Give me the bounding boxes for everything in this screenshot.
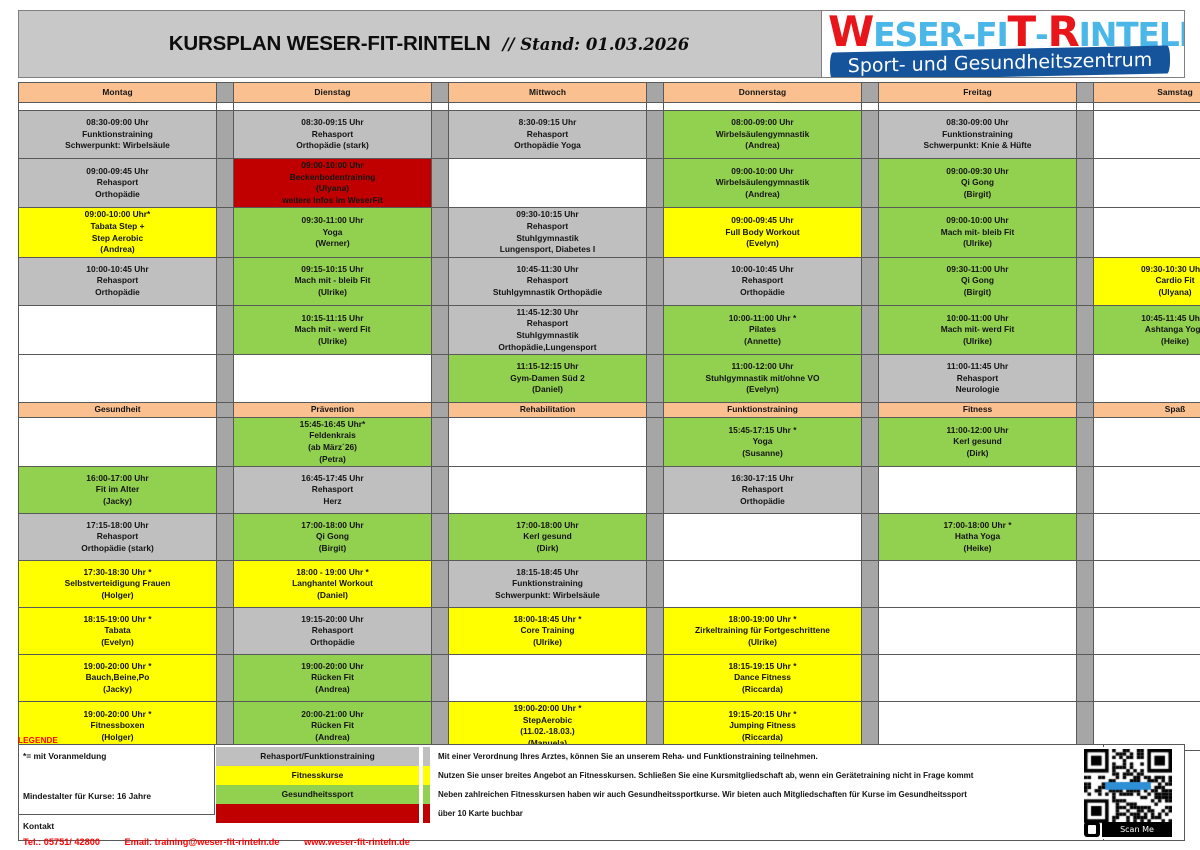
- category-header: Prävention: [234, 403, 432, 418]
- column-spacer: [647, 208, 664, 257]
- course-line: Rehasport: [236, 625, 429, 637]
- course-line: Mach mit- werd Fit: [881, 324, 1074, 336]
- course-line: (Daniel): [236, 590, 429, 602]
- column-spacer: [862, 561, 879, 608]
- legend-description: über 10 Karte buchbar: [423, 804, 1103, 823]
- column-spacer: [432, 467, 449, 514]
- course-line: 17:00-18:00 Uhr: [236, 520, 429, 532]
- course-line: Zirkeltraining für Fortgeschrittene: [666, 625, 859, 637]
- course-cell: [879, 655, 1077, 702]
- course-line: 10:45-11:45 Uhr *: [1096, 313, 1200, 325]
- column-spacer: [217, 608, 234, 655]
- course-line: Orthopädie: [21, 287, 214, 299]
- course-line: Hatha Yoga: [881, 531, 1074, 543]
- course-line: 18:00-18:45 Uhr *: [451, 614, 644, 626]
- column-spacer: [1077, 608, 1094, 655]
- course-line: 17:30-18:30 Uhr *: [21, 567, 214, 579]
- course-cell: 10:00-11:00 UhrMach mit- werd Fit(Ulrike…: [879, 305, 1077, 354]
- course-cell: [1094, 208, 1200, 257]
- course-line: Cardio Fit: [1096, 275, 1200, 287]
- course-line: Funktionstraining: [451, 578, 644, 590]
- legend-phone: Tel.: 05751/ 42800: [23, 837, 100, 847]
- column-spacer: [217, 83, 234, 103]
- course-line: Wirbelsäulengymnastik: [666, 177, 859, 189]
- course-line: 18:15-19:15 Uhr *: [666, 661, 859, 673]
- course-line: Rücken Fit: [236, 720, 429, 732]
- course-line: Wirbelsäulengymnastik: [666, 129, 859, 141]
- course-line: (Evelyn): [666, 238, 859, 250]
- course-line: (Birgit): [881, 287, 1074, 299]
- schedule-row: 18:15-19:00 Uhr *Tabata(Evelyn)19:15-20:…: [19, 608, 1200, 655]
- course-line: (Andrea): [666, 189, 859, 201]
- row-spacer: [664, 103, 862, 111]
- course-line: (Riccarda): [666, 732, 859, 744]
- course-cell: 09:30-11:00 UhrYoga(Werner): [234, 208, 432, 257]
- course-cell: 11:00-12:00 UhrStuhlgymnastik mit/ohne V…: [664, 355, 862, 403]
- course-line: 19:15-20:15 Uhr *: [666, 709, 859, 721]
- course-cell: 10:00-10:45 UhrRehasportOrthopädie: [19, 257, 217, 305]
- course-line: 17:00-18:00 Uhr: [451, 520, 644, 532]
- course-line: (Petra): [236, 454, 429, 466]
- kursplan-page: KURSPLAN WESER-FIT-RINTELN // Stand: 01.…: [0, 0, 1200, 850]
- company-logo: WESER-FIT-RINTELN Sport- und Gesundheits…: [821, 11, 1184, 77]
- course-line: 18:00 - 19:00 Uhr *: [236, 567, 429, 579]
- legend-panel: *= mit Voranmeldung Mindestalter für Kur…: [18, 744, 1185, 841]
- course-line: Yoga: [666, 436, 859, 448]
- course-cell: 09:30-10:15 UhrRehasportStuhlgymnastikLu…: [449, 208, 647, 257]
- column-spacer: [862, 111, 879, 159]
- legend-kontakt-label: Kontakt: [23, 821, 54, 831]
- course-cell: [1094, 159, 1200, 208]
- course-cell: [1094, 561, 1200, 608]
- column-spacer: [217, 305, 234, 354]
- course-line: 09:30-10:15 Uhr: [451, 209, 644, 221]
- legend-description: Mit einer Verordnung Ihres Arztes, könne…: [423, 747, 1103, 766]
- course-line: (Holger): [21, 590, 214, 602]
- course-line: Orthopädie: [666, 287, 859, 299]
- course-cell: 8:30-09:15 UhrRehasportOrthopädie Yoga: [449, 111, 647, 159]
- course-line: 11:00-11:45 Uhr: [881, 361, 1074, 373]
- column-spacer: [432, 208, 449, 257]
- column-spacer: [1077, 514, 1094, 561]
- course-line: Step Aerobic: [21, 233, 214, 245]
- course-cell: 10:15-11:15 UhrMach mit - werd Fit(Ulrik…: [234, 305, 432, 354]
- course-cell: 11:00-12:00 UhrKerl gesund(Dirk): [879, 417, 1077, 466]
- course-cell: 10:00-10:45 UhrRehasportOrthopädie: [664, 257, 862, 305]
- row-spacer: [647, 103, 664, 111]
- column-spacer: [862, 159, 879, 208]
- course-line: Rücken Fit: [236, 672, 429, 684]
- course-line: 20:00-21:00 Uhr: [236, 709, 429, 721]
- course-cell: [449, 655, 647, 702]
- column-spacer: [432, 403, 449, 418]
- course-cell: 09:00-09:45 UhrRehasportOrthopädie: [19, 159, 217, 208]
- page-title: KURSPLAN WESER-FIT-RINTELN // Stand: 01.…: [19, 11, 821, 77]
- course-line: 19:00-20:00 Uhr: [236, 661, 429, 673]
- course-line: Tabata Step +: [21, 221, 214, 233]
- course-line: 11:00-12:00 Uhr: [881, 425, 1074, 437]
- legend-contact-line: Tel.: 05751/ 42800 Email: training@weser…: [23, 837, 432, 847]
- column-spacer: [862, 514, 879, 561]
- course-line: Jumping Fitness: [666, 720, 859, 732]
- course-line: 19:00-20:00 Uhr *: [21, 709, 214, 721]
- course-line: Mach mit- bleib Fit: [881, 227, 1074, 239]
- course-line: 10:00-10:45 Uhr: [666, 264, 859, 276]
- course-line: 16:30-17:15 Uhr: [666, 473, 859, 485]
- course-line: Stuhlgymnastik mit/ohne VO: [666, 373, 859, 385]
- course-line: 09:00-09:45 Uhr: [21, 166, 214, 178]
- course-line: (Andrea): [21, 244, 214, 256]
- course-line: 09:15-10:15 Uhr: [236, 264, 429, 276]
- title-bar: KURSPLAN WESER-FIT-RINTELN // Stand: 01.…: [18, 10, 1185, 78]
- course-line: Selbstverteidigung Frauen: [21, 578, 214, 590]
- course-cell: 15:45-17:15 Uhr *Yoga(Susanne): [664, 417, 862, 466]
- day-header-montag: Montag: [19, 83, 217, 103]
- course-line: Rehasport: [236, 484, 429, 496]
- column-spacer: [1077, 257, 1094, 305]
- column-spacer: [647, 467, 664, 514]
- course-cell: 11:15-12:15 UhrGym-Damen Süd 2(Daniel): [449, 355, 647, 403]
- course-line: Rehasport: [451, 129, 644, 141]
- course-line: Rehasport: [451, 318, 644, 330]
- course-line: 16:00-17:00 Uhr: [21, 473, 214, 485]
- course-cell: [879, 467, 1077, 514]
- category-header: Funktionstraining: [664, 403, 862, 418]
- course-line: (Birgit): [881, 189, 1074, 201]
- course-cell: 15:45-16:45 Uhr*Feldenkrais(ab März´26)(…: [234, 417, 432, 466]
- schedule-row: 11:15-12:15 UhrGym-Damen Süd 2(Daniel)11…: [19, 355, 1200, 403]
- course-cell: 19:00-20:00 Uhr *Bauch,Beine,Po(Jacky): [19, 655, 217, 702]
- column-spacer: [217, 208, 234, 257]
- course-cell: [19, 355, 217, 403]
- category-header: Fitness: [879, 403, 1077, 418]
- course-line: (Heike): [881, 543, 1074, 555]
- column-spacer: [432, 417, 449, 466]
- course-line: (Werner): [236, 238, 429, 250]
- course-line: (11.02.-18.03.): [451, 726, 644, 738]
- column-spacer: [432, 305, 449, 354]
- day-header-samstag: Samstag: [1094, 83, 1200, 103]
- course-cell: 10:45-11:30 UhrRehasportStuhlgymnastik O…: [449, 257, 647, 305]
- course-line: (Riccarda): [666, 684, 859, 696]
- course-line: 16:45-17:45 Uhr: [236, 473, 429, 485]
- course-line: 8:30-09:15 Uhr: [451, 117, 644, 129]
- column-spacer: [647, 655, 664, 702]
- course-cell: 09:00-09:45 UhrFull Body Workout(Evelyn): [664, 208, 862, 257]
- course-line: Stuhlgymnastik Orthopädie: [451, 287, 644, 299]
- course-line: Neurologie: [881, 384, 1074, 396]
- course-line: Fit im Alter: [21, 484, 214, 496]
- column-spacer: [647, 159, 664, 208]
- course-cell: [1094, 111, 1200, 159]
- course-line: Rehasport: [666, 275, 859, 287]
- course-cell: 17:30-18:30 Uhr *Selbstverteidigung Frau…: [19, 561, 217, 608]
- column-spacer: [647, 514, 664, 561]
- column-spacer: [432, 608, 449, 655]
- course-line: Feldenkrais: [236, 430, 429, 442]
- course-cell: 18:00-19:00 Uhr *Zirkeltraining für Fort…: [664, 608, 862, 655]
- course-cell: 08:00-09:00 UhrWirbelsäulengymnastik(And…: [664, 111, 862, 159]
- course-line: 10:00-11:00 Uhr *: [666, 313, 859, 325]
- course-line: 11:15-12:15 Uhr: [451, 361, 644, 373]
- column-spacer: [1077, 655, 1094, 702]
- course-cell: [1094, 608, 1200, 655]
- day-header-mittwoch: Mittwoch: [449, 83, 647, 103]
- course-line: 09:30-11:00 Uhr: [236, 215, 429, 227]
- column-spacer: [432, 514, 449, 561]
- course-line: Gym-Damen Süd 2: [451, 373, 644, 385]
- course-line: Yoga: [236, 227, 429, 239]
- course-line: (Ulrike): [881, 336, 1074, 348]
- course-line: 19:00-20:00 Uhr *: [451, 703, 644, 715]
- course-cell: [1094, 417, 1200, 466]
- column-spacer: [647, 355, 664, 403]
- course-line: 10:45-11:30 Uhr: [451, 264, 644, 276]
- row-spacer: [879, 103, 1077, 111]
- course-line: Orthopädie: [236, 637, 429, 649]
- row-spacer: [432, 103, 449, 111]
- course-line: 19:15-20:00 Uhr: [236, 614, 429, 626]
- course-line: 10:15-11:15 Uhr: [236, 313, 429, 325]
- course-line: Langhantel Workout: [236, 578, 429, 590]
- course-line: (Evelyn): [666, 384, 859, 396]
- column-spacer: [217, 355, 234, 403]
- course-line: Rehasport: [451, 221, 644, 233]
- column-spacer: [1077, 305, 1094, 354]
- column-spacer: [217, 257, 234, 305]
- course-line: 19:00-20:00 Uhr *: [21, 661, 214, 673]
- course-line: 10:00-10:45 Uhr: [21, 264, 214, 276]
- qr-code-icon[interactable]: [1084, 749, 1172, 825]
- column-spacer: [1077, 561, 1094, 608]
- course-line: 18:15-19:00 Uhr *: [21, 614, 214, 626]
- column-spacer: [862, 467, 879, 514]
- column-spacer: [862, 403, 879, 418]
- course-line: 08:30-09:15 Uhr: [236, 117, 429, 129]
- course-cell: [664, 514, 862, 561]
- course-line: (Jacky): [21, 496, 214, 508]
- category-header: Spaß: [1094, 403, 1200, 418]
- course-cell: 18:15-19:15 Uhr *Dance Fitness(Riccarda): [664, 655, 862, 702]
- day-header-donnerstag: Donnerstag: [664, 83, 862, 103]
- course-cell: [879, 561, 1077, 608]
- qr-code-area[interactable]: Scan Me: [1078, 747, 1178, 839]
- column-spacer: [647, 561, 664, 608]
- course-line: Qi Gong: [236, 531, 429, 543]
- course-line: (Andrea): [236, 684, 429, 696]
- schedule-row: 10:15-11:15 UhrMach mit - werd Fit(Ulrik…: [19, 305, 1200, 354]
- row-spacer: [217, 103, 234, 111]
- course-line: (Dirk): [451, 543, 644, 555]
- category-header: Rehabilitation: [449, 403, 647, 418]
- legend-website[interactable]: www.weser-fit-rinteln.de: [304, 837, 410, 847]
- course-line: (Birgit): [236, 543, 429, 555]
- course-line: 17:00-18:00 Uhr *: [881, 520, 1074, 532]
- course-line: Rehasport: [666, 484, 859, 496]
- course-line: Orthopädie (stark): [21, 543, 214, 555]
- qr-code-box[interactable]: Scan Me: [1084, 749, 1172, 837]
- course-line: Ashtanga Yoga: [1096, 324, 1200, 336]
- course-cell: 09:00-10:00 UhrBeckenbodentraining(Ulyan…: [234, 159, 432, 208]
- course-cell: [449, 159, 647, 208]
- row-spacer: [19, 103, 217, 111]
- course-line: weitere Infos im WeserFit: [236, 195, 429, 207]
- day-header-freitag: Freitag: [879, 83, 1077, 103]
- course-line: 09:00-09:45 Uhr: [666, 215, 859, 227]
- column-spacer: [432, 83, 449, 103]
- schedule-row: 17:15-18:00 UhrRehasportOrthopädie (star…: [19, 514, 1200, 561]
- column-spacer: [862, 417, 879, 466]
- column-spacer: [647, 111, 664, 159]
- course-line: 18:15-18:45 Uhr: [451, 567, 644, 579]
- course-cell: 08:30-09:15 UhrRehasportOrthopädie (star…: [234, 111, 432, 159]
- title-stand-text: // Stand: 01.03.2026: [502, 35, 689, 54]
- course-line: Orthopädie (stark): [236, 140, 429, 152]
- course-line: Funktionstraining: [881, 129, 1074, 141]
- course-cell: 16:00-17:00 UhrFit im Alter(Jacky): [19, 467, 217, 514]
- course-line: Lungensport, Diabetes I: [451, 244, 644, 256]
- course-line: Qi Gong: [881, 177, 1074, 189]
- row-spacer: [234, 103, 432, 111]
- course-cell: 17:00-18:00 Uhr *Hatha Yoga(Heike): [879, 514, 1077, 561]
- schedule-table: MontagDienstagMittwochDonnerstagFreitagS…: [18, 82, 1200, 751]
- qr-footer: Scan Me: [1084, 822, 1172, 837]
- course-line: Orthopädie: [21, 189, 214, 201]
- course-cell: [1094, 514, 1200, 561]
- course-line: 08:30-09:00 Uhr: [21, 117, 214, 129]
- column-spacer: [862, 608, 879, 655]
- legend-description: Nutzen Sie unser breites Angebot an Fitn…: [423, 766, 1103, 785]
- row-spacer: [1077, 103, 1094, 111]
- course-cell: 09:15-10:15 UhrMach mit - bleib Fit(Ulri…: [234, 257, 432, 305]
- schedule-row: 08:30-09:00 UhrFunktionstrainingSchwerpu…: [19, 111, 1200, 159]
- legend-color-swatches: Rehasport/FunktionstrainingFitnesskurseG…: [216, 747, 419, 823]
- column-spacer: [647, 417, 664, 466]
- course-line: (Dirk): [881, 448, 1074, 460]
- course-cell: 09:30-11:00 UhrQi Gong(Birgit): [879, 257, 1077, 305]
- course-line: Orthopädie,Lungensport: [451, 342, 644, 354]
- row-spacer: [1094, 103, 1200, 111]
- column-spacer: [217, 655, 234, 702]
- qr-scan-label: Scan Me: [1102, 822, 1172, 837]
- column-spacer: [647, 257, 664, 305]
- course-cell: 09:00-10:00 UhrMach mit- bleib Fit(Ulrik…: [879, 208, 1077, 257]
- course-cell: 18:00-18:45 Uhr *Core Training(Ulrike): [449, 608, 647, 655]
- course-line: 09:00-10:00 Uhr*: [21, 209, 214, 221]
- schedule-row: 10:00-10:45 UhrRehasportOrthopädie09:15-…: [19, 257, 1200, 305]
- course-line: (Jacky): [21, 684, 214, 696]
- course-cell: [879, 608, 1077, 655]
- column-spacer: [217, 514, 234, 561]
- course-cell: 08:30-09:00 UhrFunktionstrainingSchwerpu…: [19, 111, 217, 159]
- course-line: (Andrea): [666, 140, 859, 152]
- column-spacer: [432, 111, 449, 159]
- course-line: 11:00-12:00 Uhr: [666, 361, 859, 373]
- course-cell: 11:45-12:30 UhrRehasportStuhlgymnastikOr…: [449, 305, 647, 354]
- course-cell: [19, 417, 217, 466]
- course-line: 09:00-09:30 Uhr: [881, 166, 1074, 178]
- course-cell: 17:00-18:00 UhrKerl gesund(Dirk): [449, 514, 647, 561]
- course-cell: 09:00-09:30 UhrQi Gong(Birgit): [879, 159, 1077, 208]
- course-cell: 11:00-11:45 UhrRehasportNeurologie: [879, 355, 1077, 403]
- course-line: Rehasport: [21, 275, 214, 287]
- column-spacer: [432, 257, 449, 305]
- course-cell: 17:15-18:00 UhrRehasportOrthopädie (star…: [19, 514, 217, 561]
- course-line: Rehasport: [451, 275, 644, 287]
- course-line: 08:30-09:00 Uhr: [881, 117, 1074, 129]
- course-cell: 16:45-17:45 UhrRehasportHerz: [234, 467, 432, 514]
- column-spacer: [862, 208, 879, 257]
- course-line: 09:00-10:00 Uhr: [881, 215, 1074, 227]
- course-line: 15:45-16:45 Uhr*: [236, 419, 429, 431]
- column-spacer: [647, 83, 664, 103]
- course-cell: 17:00-18:00 UhrQi Gong(Birgit): [234, 514, 432, 561]
- column-spacer: [862, 83, 879, 103]
- logo-text-eser: ESER-FI: [873, 15, 1007, 54]
- course-line: Orthopädie: [666, 496, 859, 508]
- row-spacer: [862, 103, 879, 111]
- course-line: (Daniel): [451, 384, 644, 396]
- column-spacer: [1077, 111, 1094, 159]
- course-line: Orthopädie Yoga: [451, 140, 644, 152]
- column-spacer: [1077, 208, 1094, 257]
- course-line: Full Body Workout: [666, 227, 859, 239]
- course-line: 15:45-17:15 Uhr *: [666, 425, 859, 437]
- course-cell: 18:15-18:45 UhrFunktionstrainingSchwerpu…: [449, 561, 647, 608]
- course-line: Schwerpunkt: Knie & Hüfte: [881, 140, 1074, 152]
- course-cell: 19:00-20:00 UhrRücken Fit(Andrea): [234, 655, 432, 702]
- course-cell: [1094, 355, 1200, 403]
- course-line: Herz: [236, 496, 429, 508]
- course-line: Tabata: [21, 625, 214, 637]
- category-header: Gesundheit: [19, 403, 217, 418]
- schedule-row: 09:00-09:45 UhrRehasportOrthopädie09:00-…: [19, 159, 1200, 208]
- course-line: 18:00-19:00 Uhr *: [666, 614, 859, 626]
- course-line: Funktionstraining: [21, 129, 214, 141]
- course-line: 08:00-09:00 Uhr: [666, 117, 859, 129]
- schedule-row: 09:00-10:00 Uhr*Tabata Step +Step Aerobi…: [19, 208, 1200, 257]
- column-spacer: [432, 655, 449, 702]
- course-cell: 18:00 - 19:00 Uhr *Langhantel Workout(Da…: [234, 561, 432, 608]
- column-spacer: [862, 355, 879, 403]
- column-spacer: [432, 561, 449, 608]
- course-line: (Evelyn): [21, 637, 214, 649]
- course-cell: 09:00-10:00 UhrWirbelsäulengymnastik(And…: [664, 159, 862, 208]
- course-line: (Susanne): [666, 448, 859, 460]
- course-line: Rehasport: [881, 373, 1074, 385]
- legend-swatch: Zusatzkurse: [216, 804, 419, 823]
- course-line: Rehasport: [21, 177, 214, 189]
- legend-note-mindestalter: Mindestalter für Kurse: 16 Jahre: [23, 791, 151, 801]
- course-line: Rehasport: [21, 531, 214, 543]
- course-line: Qi Gong: [881, 275, 1074, 287]
- course-line: Schwerpunkt: Wirbelsäule: [451, 590, 644, 602]
- day-header-dienstag: Dienstag: [234, 83, 432, 103]
- course-line: Fitnessboxen: [21, 720, 214, 732]
- schedule-row: 16:00-17:00 UhrFit im Alter(Jacky)16:45-…: [19, 467, 1200, 514]
- column-spacer: [862, 257, 879, 305]
- course-cell: 08:30-09:00 UhrFunktionstrainingSchwerpu…: [879, 111, 1077, 159]
- course-cell: [449, 467, 647, 514]
- course-line: (Andrea): [236, 732, 429, 744]
- course-cell: 10:00-11:00 Uhr *Pilates(Annette): [664, 305, 862, 354]
- course-cell: 10:45-11:45 Uhr *Ashtanga Yoga(Heike): [1094, 305, 1200, 354]
- course-line: StepAerobic: [451, 715, 644, 727]
- course-line: 09:30-10:30 Uhr *: [1096, 264, 1200, 276]
- course-line: Rehasport: [236, 129, 429, 141]
- course-line: Kerl gesund: [451, 531, 644, 543]
- legend-email[interactable]: Email: training@weser-fit-rinteln.de: [125, 837, 280, 847]
